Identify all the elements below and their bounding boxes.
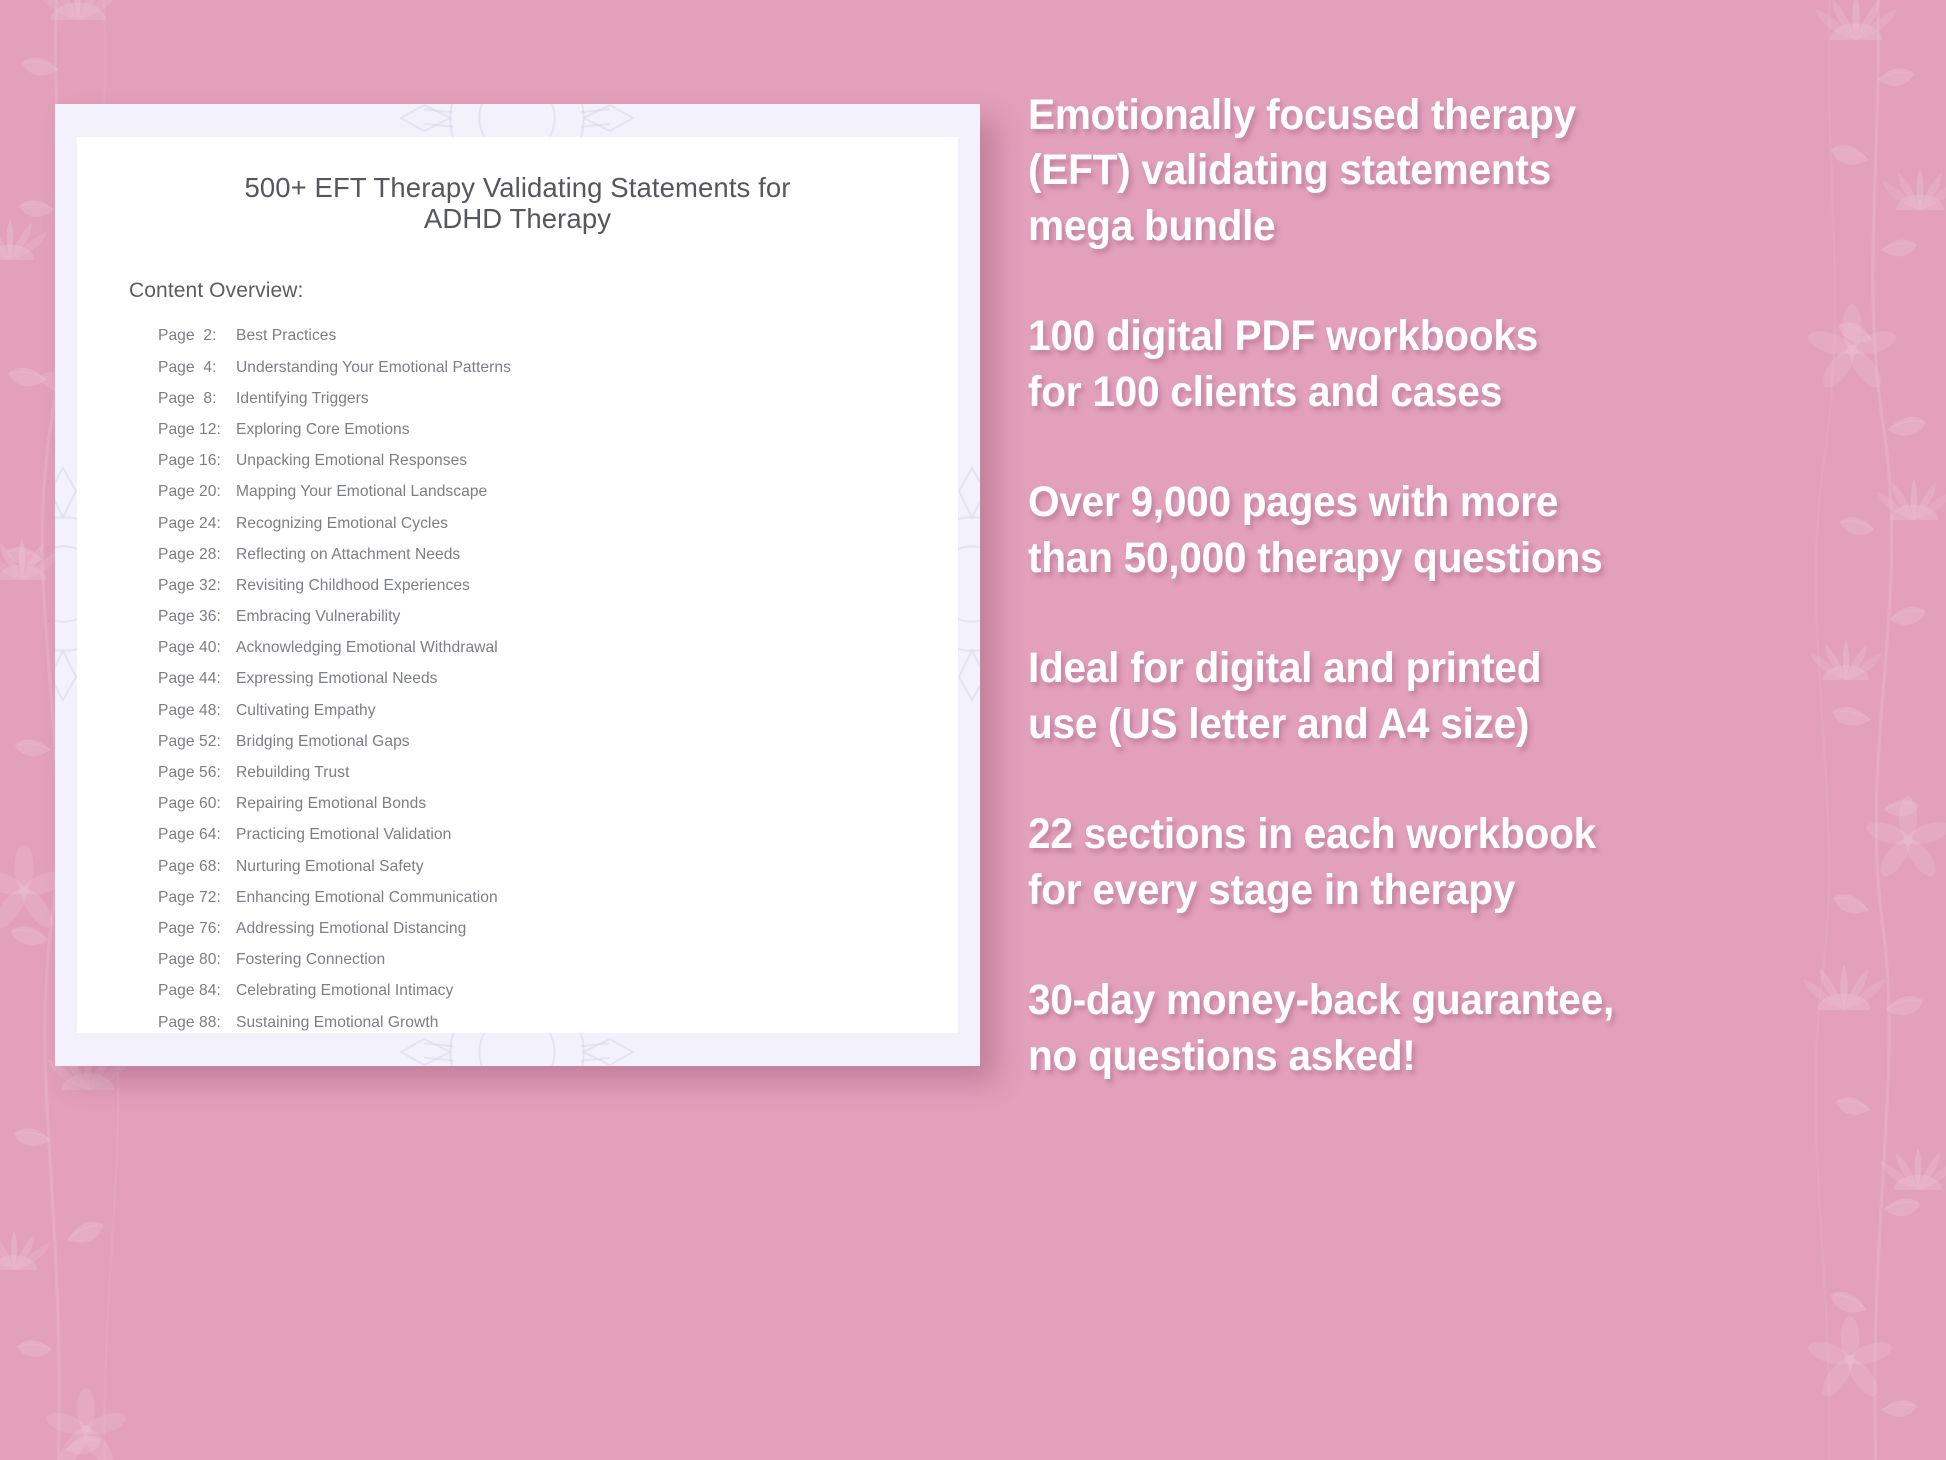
toc-entry: Page 60:Repairing Emotional Bonds [158, 788, 906, 819]
toc-entry-label: Revisiting Childhood Experiences [236, 578, 470, 594]
toc-entry-page: Page 52: [158, 734, 228, 750]
toc-entry-page: Page 64: [158, 827, 228, 843]
toc-entry-label: Fostering Connection [236, 952, 385, 968]
toc-entry: Page 52:Bridging Emotional Gaps [158, 726, 906, 757]
toc-entry-page: Page 4: [158, 360, 228, 376]
toc-entry-page: Page 48: [158, 703, 228, 719]
toc-entry: Page 44:Expressing Emotional Needs [158, 664, 906, 695]
toc-entry-page: Page 68: [158, 859, 228, 875]
toc-entry: Page 72:Enhancing Emotional Communicatio… [158, 882, 906, 913]
toc-entry-page: Page 88: [158, 1015, 228, 1031]
toc-entry-page: Page 60: [158, 796, 228, 812]
toc-entry-label: Celebrating Emotional Intimacy [236, 983, 453, 999]
page-background: 500+ EFT Therapy Validating Statements f… [0, 0, 1946, 1460]
toc-entry-label: Rebuilding Trust [236, 765, 349, 781]
toc-entry-label: Acknowledging Emotional Withdrawal [236, 640, 498, 656]
toc-entry: Page 40:Acknowledging Emotional Withdraw… [158, 632, 906, 663]
toc-entry-label: Reflecting on Attachment Needs [236, 547, 460, 563]
toc-entry-page: Page 28: [158, 547, 228, 563]
toc-entry-label: Best Practices [236, 328, 336, 344]
toc-entry-label: Practicing Emotional Validation [236, 827, 451, 843]
toc-entry: Page 32:Revisiting Childhood Experiences [158, 570, 906, 601]
toc-entry: Page 16:Unpacking Emotional Responses [158, 445, 906, 476]
toc-entry: Page 76:Addressing Emotional Distancing [158, 913, 906, 944]
toc-entry-page: Page 44: [158, 671, 228, 687]
toc-entry-page: Page 76: [158, 921, 228, 937]
toc-entry-page: Page 56: [158, 765, 228, 781]
toc-entry-page: Page 40: [158, 640, 228, 656]
document-page: 500+ EFT Therapy Validating Statements f… [77, 137, 958, 1033]
toc-entry-label: Unpacking Emotional Responses [236, 453, 467, 469]
toc-entry-page: Page 84: [158, 983, 228, 999]
toc-entry: Page 84:Celebrating Emotional Intimacy [158, 976, 906, 1007]
toc-entry: Page 48:Cultivating Empathy [158, 695, 906, 726]
toc-entry-label: Repairing Emotional Bonds [236, 796, 426, 812]
toc-entry-label: Recognizing Emotional Cycles [236, 516, 448, 532]
toc-entry-page: Page 20: [158, 484, 228, 500]
toc-entry-label: Cultivating Empathy [236, 703, 376, 719]
marketing-statement: 30-day money-back guarantee, no question… [1028, 973, 1879, 1084]
toc-entry-label: Expressing Emotional Needs [236, 671, 438, 687]
toc-entry: Page 80:Fostering Connection [158, 944, 906, 975]
content-overview-heading: Content Overview: [129, 279, 906, 303]
toc-entry-page: Page 2: [158, 328, 228, 344]
table-of-contents-list: Page 2:Best PracticesPage 4:Understandin… [129, 321, 906, 1033]
toc-entry-label: Bridging Emotional Gaps [236, 734, 410, 750]
marketing-statement: Emotionally focused therapy (EFT) valida… [1028, 88, 1879, 254]
toc-entry: Page 68:Nurturing Emotional Safety [158, 851, 906, 882]
toc-entry-page: Page 12: [158, 422, 228, 438]
toc-entry-page: Page 72: [158, 890, 228, 906]
toc-entry: Page 36:Embracing Vulnerability [158, 601, 906, 632]
document-title: 500+ EFT Therapy Validating Statements f… [129, 173, 906, 235]
toc-entry-label: Mapping Your Emotional Landscape [236, 484, 487, 500]
toc-entry: Page 64:Practicing Emotional Validation [158, 820, 906, 851]
toc-entry: Page 24:Recognizing Emotional Cycles [158, 508, 906, 539]
marketing-copy-column: Emotionally focused therapy (EFT) valida… [1028, 88, 1928, 1084]
toc-entry-page: Page 80: [158, 952, 228, 968]
marketing-statement: 100 digital PDF workbooks for 100 client… [1028, 309, 1879, 420]
toc-entry-label: Exploring Core Emotions [236, 422, 410, 438]
marketing-statement: Over 9,000 pages with more than 50,000 t… [1028, 475, 1879, 586]
document-preview-card[interactable]: 500+ EFT Therapy Validating Statements f… [55, 104, 980, 1066]
toc-entry: Page 88:Sustaining Emotional Growth [158, 1007, 906, 1033]
toc-entry-label: Enhancing Emotional Communication [236, 890, 498, 906]
toc-entry: Page 2:Best Practices [158, 321, 906, 352]
toc-entry-page: Page 16: [158, 453, 228, 469]
toc-entry-page: Page 32: [158, 578, 228, 594]
marketing-statement: Ideal for digital and printed use (US le… [1028, 641, 1879, 752]
toc-entry-page: Page 8: [158, 391, 228, 407]
toc-entry: Page 8:Identifying Triggers [158, 383, 906, 414]
toc-entry: Page 4:Understanding Your Emotional Patt… [158, 352, 906, 383]
marketing-statement: 22 sections in each workbook for every s… [1028, 807, 1879, 918]
toc-entry-label: Embracing Vulnerability [236, 609, 400, 625]
toc-entry: Page 56:Rebuilding Trust [158, 757, 906, 788]
toc-entry-label: Identifying Triggers [236, 391, 369, 407]
toc-entry-label: Nurturing Emotional Safety [236, 859, 424, 875]
toc-entry: Page 20:Mapping Your Emotional Landscape [158, 477, 906, 508]
toc-entry: Page 28:Reflecting on Attachment Needs [158, 539, 906, 570]
toc-entry: Page 12:Exploring Core Emotions [158, 414, 906, 445]
toc-entry-page: Page 36: [158, 609, 228, 625]
toc-entry-label: Addressing Emotional Distancing [236, 921, 466, 937]
toc-entry-label: Sustaining Emotional Growth [236, 1015, 438, 1031]
toc-entry-page: Page 24: [158, 516, 228, 532]
toc-entry-label: Understanding Your Emotional Patterns [236, 360, 511, 376]
